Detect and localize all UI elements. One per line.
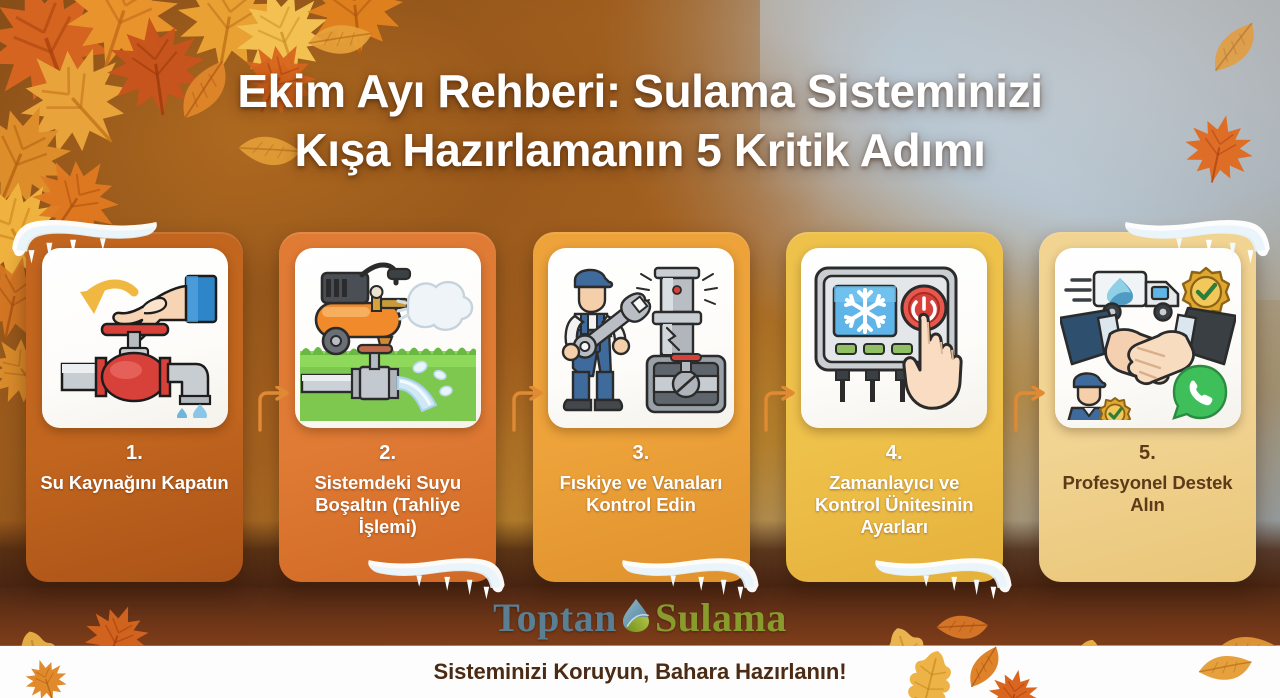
step-card-2[interactable]: 2.Sistemdeki Suyu Boşaltın (Tahliye İşle… bbox=[279, 232, 496, 582]
step-number: 5. bbox=[1139, 442, 1156, 465]
logo-text-toptan: Toptan bbox=[493, 595, 617, 640]
autumn-leaf-icon bbox=[22, 656, 70, 698]
step-number: 3. bbox=[632, 442, 649, 465]
controller-snowflake-power-button-icon bbox=[801, 248, 987, 428]
step-label: Su Kaynağını Kapatın bbox=[40, 472, 228, 494]
step-number: 2. bbox=[379, 442, 396, 465]
step-card-4[interactable]: 4.Zamanlayıcı ve Kontrol Ünitesinin Ayar… bbox=[786, 232, 1003, 582]
autumn-leaf-icon bbox=[900, 648, 956, 698]
step-arrow-3 bbox=[762, 386, 798, 432]
hand-closing-red-valve-icon bbox=[50, 258, 220, 418]
arrow-right-icon bbox=[762, 386, 798, 432]
infographic-canvas: Ekim Ayı Rehberi: Sulama Sisteminizi Kış… bbox=[0, 0, 1280, 698]
step-card-1[interactable]: 1.Su Kaynağını Kapatın bbox=[26, 232, 243, 582]
step-label: Zamanlayıcı ve Kontrol Ünitesinin Ayarla… bbox=[798, 472, 991, 539]
footer-tagline: Sisteminizi Koruyun, Bahara Hazırlanın! bbox=[434, 659, 847, 685]
brand-logo[interactable]: Toptan Sulama bbox=[0, 594, 1280, 641]
technician-wrench-sprinkler-valve-icon bbox=[555, 256, 727, 420]
autumn-leaf-icon bbox=[985, 666, 1043, 698]
handshake-delivery-support-icon bbox=[1060, 256, 1236, 420]
step-number: 1. bbox=[126, 442, 143, 465]
water-drop-leaf-icon bbox=[619, 596, 653, 639]
autumn-leaf-icon bbox=[1200, 650, 1250, 685]
step-label: Sistemdeki Suyu Boşaltın (Tahliye İşlemi… bbox=[291, 472, 484, 539]
step-label: Fıskiye ve Vanaları Kontrol Edin bbox=[545, 472, 738, 516]
air-compressor-blowout-icon bbox=[295, 248, 481, 428]
title-line-2: Kışa Hazırlamanın 5 Kritik Adımı bbox=[0, 121, 1280, 180]
step-card-5[interactable]: 5.Profesyonel Destek Alın bbox=[1039, 232, 1256, 582]
step-label: Profesyonel Destek Alın bbox=[1051, 472, 1244, 516]
arrow-right-icon bbox=[510, 386, 546, 432]
handshake-delivery-support-icon bbox=[1055, 248, 1241, 428]
step-arrow-2 bbox=[510, 386, 546, 432]
page-title: Ekim Ayı Rehberi: Sulama Sisteminizi Kış… bbox=[0, 62, 1280, 180]
hand-closing-red-valve-icon bbox=[42, 248, 228, 428]
controller-snowflake-power-button-icon bbox=[808, 258, 980, 418]
air-compressor-blowout-icon bbox=[300, 255, 476, 421]
step-arrow-1 bbox=[256, 386, 292, 432]
arrow-right-icon bbox=[1012, 386, 1048, 432]
step-arrow-4 bbox=[1012, 386, 1048, 432]
autumn-leaf-icon bbox=[310, 18, 370, 60]
technician-wrench-sprinkler-valve-icon bbox=[548, 248, 734, 428]
arrow-right-icon bbox=[256, 386, 292, 432]
title-line-1: Ekim Ayı Rehberi: Sulama Sisteminizi bbox=[0, 62, 1280, 121]
steps-row: 1.Su Kaynağını Kapatın bbox=[26, 232, 1256, 582]
logo-text-sulama: Sulama bbox=[655, 595, 787, 640]
step-card-3[interactable]: 3.Fıskiye ve Vanaları Kontrol Edin bbox=[533, 232, 750, 582]
step-number: 4. bbox=[886, 442, 903, 465]
footer-strip: Sisteminizi Koruyun, Bahara Hazırlanın! bbox=[0, 646, 1280, 698]
